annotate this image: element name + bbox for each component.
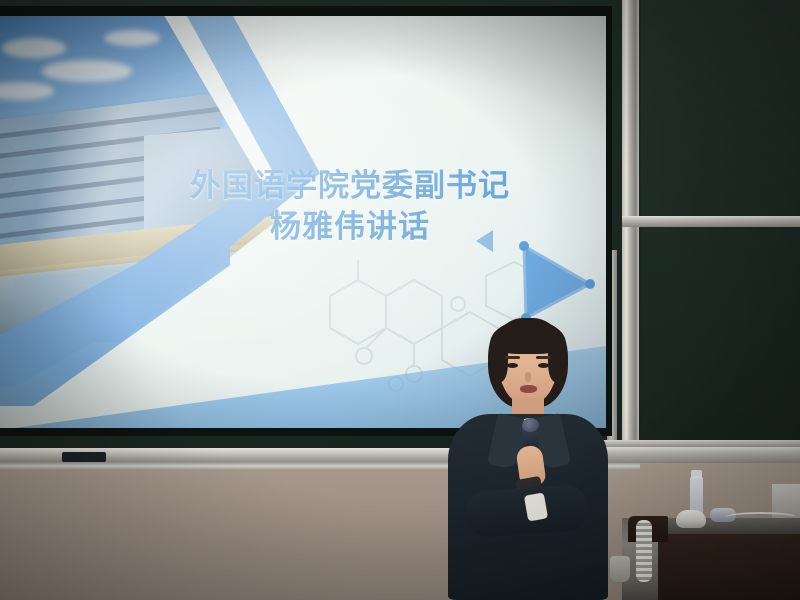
- eraser: [62, 452, 106, 462]
- nose: [525, 372, 531, 382]
- blackboard-right-panel: [641, 0, 800, 455]
- computer-mouse: [676, 510, 706, 528]
- eyebrow-left: [505, 356, 520, 359]
- chalk-tray-right: [600, 447, 800, 463]
- coiled-cord: [636, 520, 652, 582]
- slide-title: 外国语学院党委副书记 杨雅伟讲话: [150, 166, 550, 248]
- cloud-icon: [104, 30, 160, 46]
- speaker-figure: [440, 318, 615, 600]
- shirt-cuff: [524, 492, 548, 521]
- classroom-photo-scene: 外国语学院党委副书记 杨雅伟讲话: [0, 0, 800, 600]
- podium-cable: [726, 512, 796, 522]
- cloud-icon: [42, 60, 132, 82]
- eyebrow-right: [536, 356, 551, 359]
- triangle-outline-icon: [512, 238, 598, 328]
- blackboard-horizontal-rail: [622, 216, 800, 227]
- slide-title-line-1: 外国语学院党委副书记: [150, 166, 550, 207]
- eye-left: [507, 363, 518, 368]
- cloud-icon: [2, 38, 66, 58]
- mouth: [520, 385, 537, 393]
- eye-right: [538, 363, 549, 368]
- slide-title-line-2: 杨雅伟讲话: [150, 207, 550, 248]
- podium-body: [650, 534, 800, 600]
- cup-holder: [610, 556, 630, 582]
- blackboard-vertical-rail: [622, 0, 639, 462]
